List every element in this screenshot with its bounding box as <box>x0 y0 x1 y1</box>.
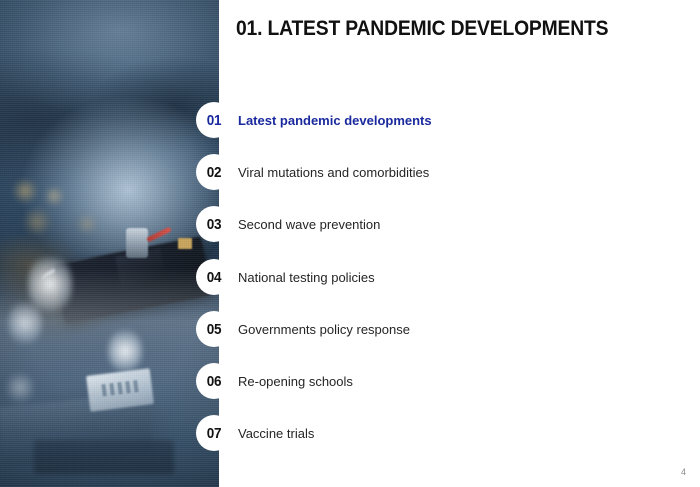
agenda-number-07: 07 <box>207 425 221 442</box>
agenda-badge-06: 06 <box>196 363 232 399</box>
agenda-item-04[interactable]: 04 National testing policies <box>196 259 375 295</box>
agenda-item-06[interactable]: 06 Re-opening schools <box>196 363 353 399</box>
agenda-number-03: 03 <box>207 216 221 233</box>
agenda-badge-04: 04 <box>196 259 232 295</box>
agenda-badge-07: 07 <box>196 415 232 451</box>
agenda-label-02: Viral mutations and comorbidities <box>238 165 429 180</box>
agenda-item-05[interactable]: 05 Governments policy response <box>196 311 410 347</box>
agenda-item-01[interactable]: 01 Latest pandemic developments <box>196 102 432 138</box>
photo-grain <box>0 0 219 487</box>
page-title: 01. LATEST PANDEMIC DEVELOPMENTS <box>236 17 608 41</box>
agenda-label-06: Re-opening schools <box>238 374 353 389</box>
agenda-badge-05: 05 <box>196 311 232 347</box>
agenda-item-02[interactable]: 02 Viral mutations and comorbidities <box>196 154 429 190</box>
agenda-number-02: 02 <box>207 164 221 181</box>
agenda-number-05: 05 <box>207 321 221 338</box>
agenda-item-07[interactable]: 07 Vaccine trials <box>196 415 314 451</box>
agenda-number-04: 04 <box>207 269 221 286</box>
presentation-slide: 01. LATEST PANDEMIC DEVELOPMENTS 01 Late… <box>0 0 700 487</box>
agenda-number-06: 06 <box>207 373 221 390</box>
agenda-label-03: Second wave prevention <box>238 217 380 232</box>
agenda-badge-01: 01 <box>196 102 232 138</box>
laboratory-equipment-photo <box>0 0 219 487</box>
agenda-badge-02: 02 <box>196 154 232 190</box>
page-number: 4 <box>681 467 686 477</box>
agenda-label-07: Vaccine trials <box>238 426 314 441</box>
agenda-number-01: 01 <box>207 112 221 129</box>
agenda-badge-03: 03 <box>196 206 232 242</box>
agenda-label-01: Latest pandemic developments <box>238 113 432 128</box>
agenda-item-03[interactable]: 03 Second wave prevention <box>196 206 380 242</box>
agenda-label-04: National testing policies <box>238 270 375 285</box>
agenda-label-05: Governments policy response <box>238 322 410 337</box>
